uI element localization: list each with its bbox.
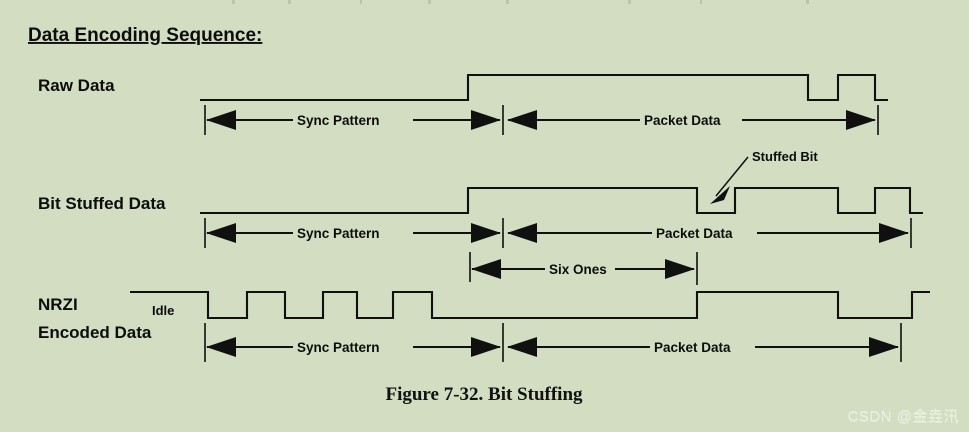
figure-container: Data Encoding Sequence: Raw Data Sync Pa… bbox=[0, 0, 969, 432]
dim-label-packet-stuffed: Packet Data bbox=[656, 226, 733, 241]
row-label-nrzi-line2: Encoded Data bbox=[38, 323, 152, 342]
diagram-background bbox=[0, 0, 969, 432]
bit-stuffing-diagram: Data Encoding Sequence: Raw Data Sync Pa… bbox=[0, 0, 969, 432]
dim-label-sync-stuffed: Sync Pattern bbox=[297, 226, 380, 241]
page-title: Data Encoding Sequence: bbox=[28, 25, 262, 46]
row-label-nrzi-line1: NRZI bbox=[38, 295, 78, 314]
row-label-bit-stuffed-data: Bit Stuffed Data bbox=[38, 194, 166, 213]
dim-label-six-ones: Six Ones bbox=[549, 262, 607, 277]
nrzi-idle-label: Idle bbox=[152, 303, 174, 318]
csdn-watermark: CSDN @金垚汛 bbox=[848, 405, 959, 426]
figure-caption: Figure 7-32. Bit Stuffing bbox=[385, 384, 583, 405]
row-label-raw-data: Raw Data bbox=[38, 76, 115, 95]
dim-label-sync-raw: Sync Pattern bbox=[297, 113, 380, 128]
dim-label-sync-nrzi: Sync Pattern bbox=[297, 340, 380, 355]
dim-label-packet-nrzi: Packet Data bbox=[654, 340, 731, 355]
callout-label-stuffed-bit: Stuffed Bit bbox=[752, 149, 818, 164]
dim-label-packet-raw: Packet Data bbox=[644, 113, 721, 128]
